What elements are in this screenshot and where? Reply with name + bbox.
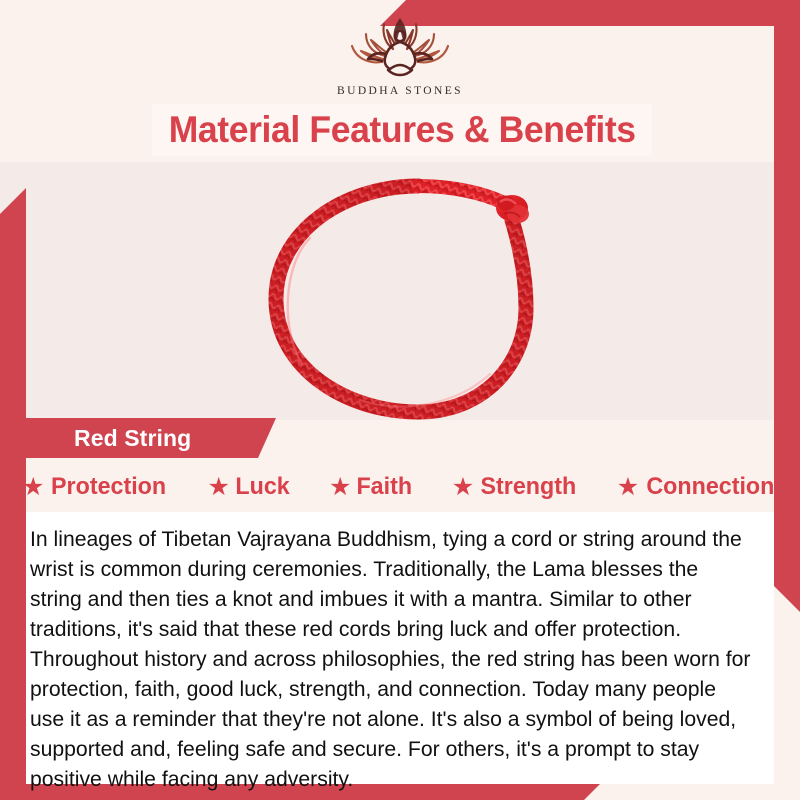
description-panel: In lineages of Tibetan Vajrayana Buddhis… <box>26 512 774 784</box>
feature-label: Connection <box>647 473 775 501</box>
feature-label: Luck <box>235 473 289 501</box>
star-icon: ★ <box>617 475 639 500</box>
feature-label: Protection <box>51 473 166 501</box>
feature-item-faith: ★ Faith <box>329 473 414 501</box>
feature-list: ★ Protection ★ Luck ★ Faith ★ Strength ★… <box>22 467 778 507</box>
feature-item-strength: ★ Strength <box>452 473 579 501</box>
product-image <box>250 168 580 426</box>
feature-label: Faith <box>357 473 413 501</box>
title-banner: Material Features & Benefits <box>152 104 652 156</box>
star-icon: ★ <box>452 475 474 500</box>
red-string-bracelet-illustration <box>250 168 580 426</box>
feature-item-protection: ★ Protection <box>22 473 170 501</box>
description-paragraph: In lineages of Tibetan Vajrayana Buddhis… <box>30 524 751 794</box>
feature-item-luck: ★ Luck <box>207 473 291 501</box>
product-label-text: Red String <box>74 425 191 452</box>
feature-label: Strength <box>481 473 577 501</box>
page-title: Material Features & Benefits <box>169 109 636 151</box>
feature-item-connection: ★ Connection <box>617 473 778 501</box>
brand-logo: BUDDHA STONES <box>0 10 800 97</box>
infographic-page: BUDDHA STONES Material Features & Benefi… <box>0 0 800 800</box>
star-icon: ★ <box>329 475 351 500</box>
product-label-ribbon: Red String <box>26 418 276 458</box>
brand-name: BUDDHA STONES <box>337 85 463 97</box>
star-icon: ★ <box>22 475 44 500</box>
star-icon: ★ <box>207 475 229 500</box>
lotus-meditation-icon <box>330 10 470 82</box>
